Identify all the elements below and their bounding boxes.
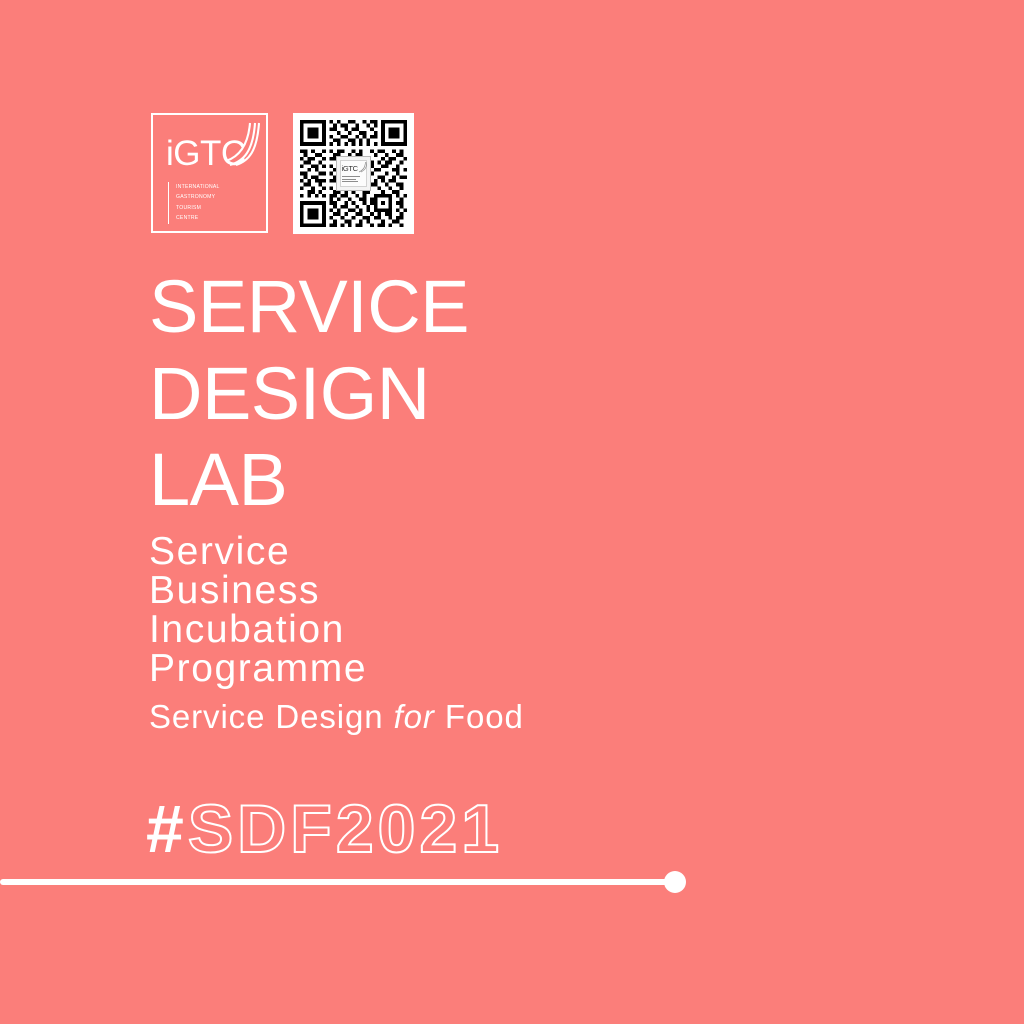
page-title: SERVICE DESIGN LAB [149,264,469,524]
subtitle-line-2: Business [149,571,367,610]
headline-line-2: DESIGN [149,351,469,438]
subtitle-line-1: Service [149,532,367,571]
qr-code[interactable]: iGTC [293,113,414,234]
subtitle-line-4: Programme [149,649,367,688]
horizontal-rule [0,879,676,885]
hashtag-text: SDF2021 [188,791,503,867]
end-dot [664,871,686,893]
hash-symbol: # [146,791,188,867]
brand-row: iGTC INTERNATIONAL GASTRONOMY TOURISM CE… [151,113,414,234]
headline-line-3: LAB [149,437,469,524]
qr-center-logo-wordmark: iGTC [342,165,358,173]
igtc-logo: iGTC INTERNATIONAL GASTRONOMY TOURISM CE… [151,113,268,233]
qr-center-logo-tagline-lines [342,176,362,184]
igtc-tagline-line-2: GASTRONOMY [176,192,220,202]
subtitle: Service Business Incubation Programme [149,532,367,688]
tagline-before-italic: Service Design [149,698,394,735]
tagline-italic-word: for [394,698,435,735]
igtc-logo-tagline: INTERNATIONAL GASTRONOMY TOURISM CENTRE [168,182,220,224]
igtc-tagline-line-1: INTERNATIONAL [176,182,220,192]
poster-canvas: { "theme": { "background_color": "#FB7E7… [0,0,1024,1024]
igtc-tagline-line-4: CENTRE [176,213,220,223]
tagline: Service Design for Food [149,698,524,736]
headline-line-1: SERVICE [149,264,469,351]
subtitle-line-3: Incubation [149,610,367,649]
tagline-after-italic: Food [435,698,524,735]
hashtag: #SDF2021 [146,795,503,863]
qr-center-logo: iGTC [336,156,371,191]
igtc-tagline-line-3: TOURISM [176,203,220,213]
curved-stripes-icon [226,121,260,167]
curved-stripes-icon [358,161,367,173]
